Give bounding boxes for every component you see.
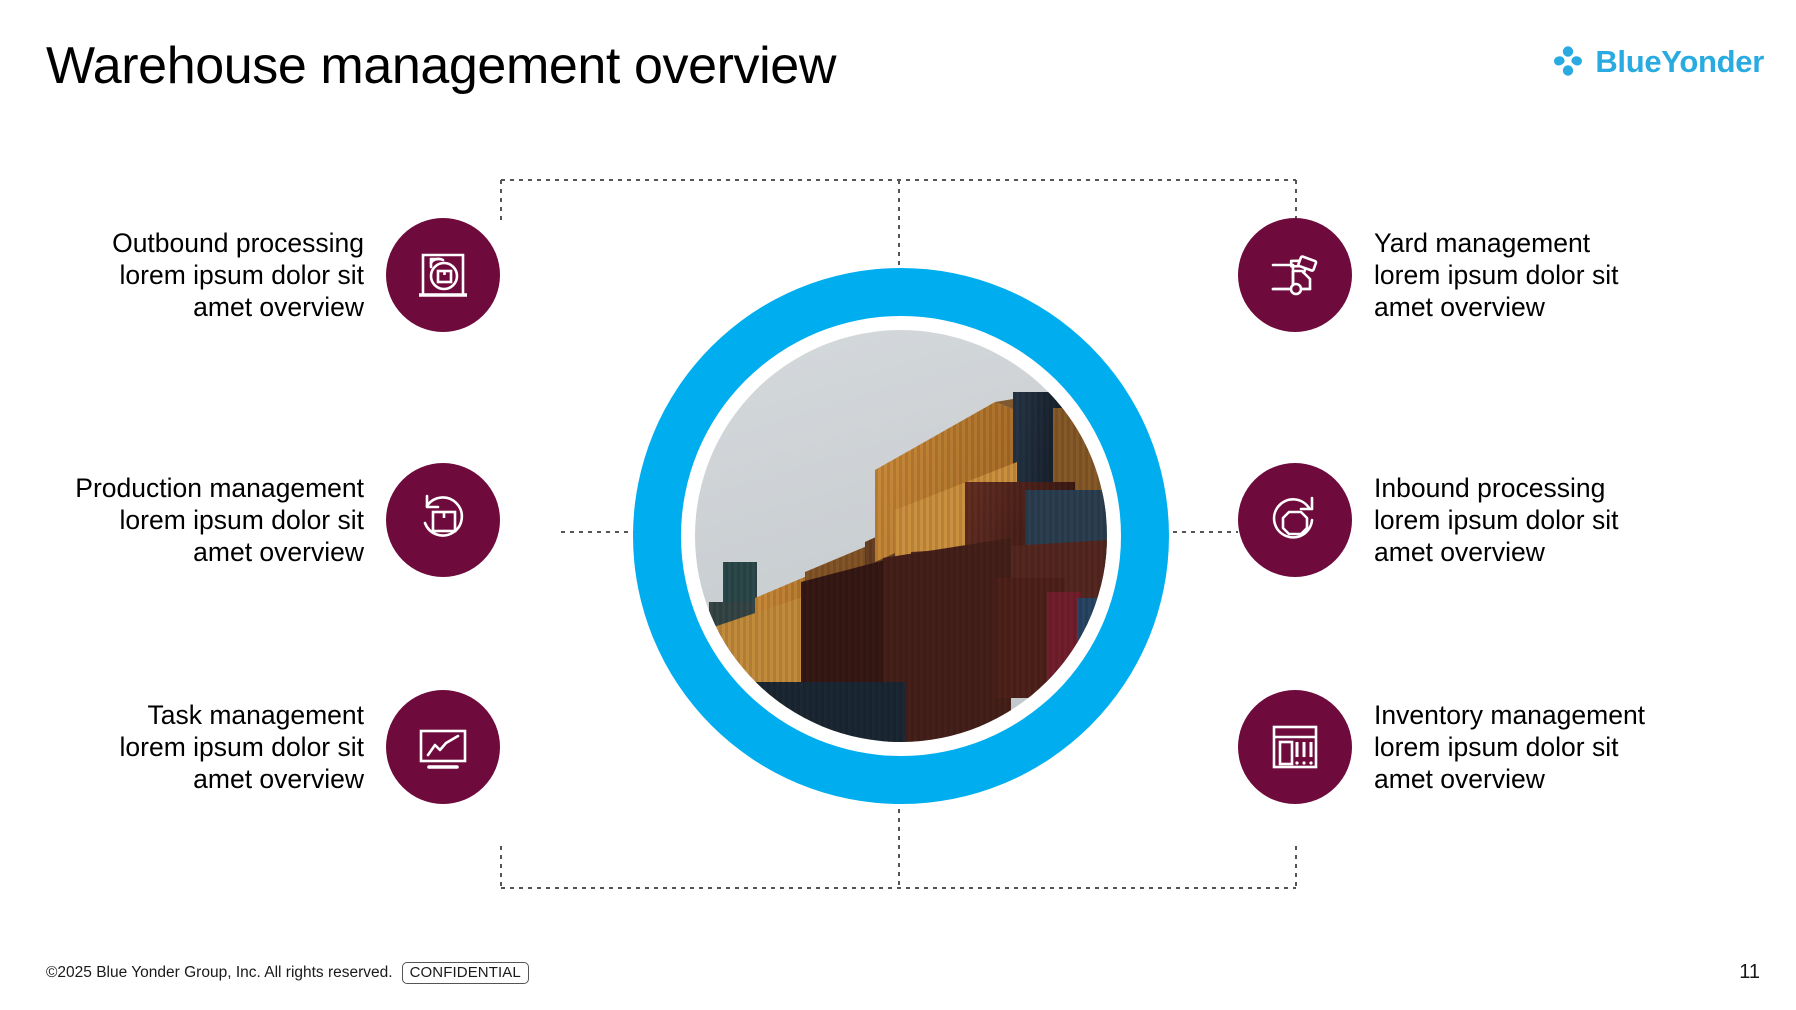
item-line-2: lorem ipsum dolor sit [1374,731,1674,763]
page-title: Warehouse management overview [46,36,836,96]
outbound-processing-icon[interactable] [386,218,500,332]
confidential-badge: CONFIDENTIAL [402,962,529,984]
item-line-2: lorem ipsum dolor sit [64,504,364,536]
logo-wordmark: BlueYonder [1595,46,1764,77]
item-task-management[interactable]: Task management lorem ipsum dolor sit am… [64,690,500,804]
item-label: Inbound processing lorem ipsum dolor sit… [1374,472,1674,569]
production-management-icon[interactable] [386,463,500,577]
item-line-3: amet overview [1374,763,1674,795]
task-management-icon[interactable] [386,690,500,804]
copyright-text: ©2025 Blue Yonder Group, Inc. All rights… [46,964,393,982]
item-line-1: Inventory management [1374,699,1674,731]
blueyonder-logo: BlueYonder [1551,44,1764,78]
item-label: Production management lorem ipsum dolor … [64,472,364,569]
footer: ©2025 Blue Yonder Group, Inc. All rights… [46,962,529,984]
item-line-3: amet overview [1374,536,1674,568]
item-outbound-processing[interactable]: Outbound processing lorem ipsum dolor si… [64,218,500,332]
item-line-2: lorem ipsum dolor sit [1374,504,1674,536]
item-line-1: Yard management [1374,227,1674,259]
item-line-2: lorem ipsum dolor sit [1374,259,1674,291]
item-label: Inventory management lorem ipsum dolor s… [1374,699,1674,796]
item-line-2: lorem ipsum dolor sit [64,731,364,763]
item-line-1: Task management [64,699,364,731]
item-inventory-management[interactable]: Inventory management lorem ipsum dolor s… [1238,690,1674,804]
item-label: Task management lorem ipsum dolor sit am… [64,699,364,796]
item-production-management[interactable]: Production management lorem ipsum dolor … [64,463,500,577]
shipping-containers-photo [695,330,1107,742]
item-line-1: Outbound processing [64,227,364,259]
page-number: 11 [1739,961,1760,984]
item-line-1: Inbound processing [1374,472,1674,504]
item-line-3: amet overview [64,536,364,568]
item-inbound-processing[interactable]: Inbound processing lorem ipsum dolor sit… [1238,463,1674,577]
item-line-2: lorem ipsum dolor sit [64,259,364,291]
item-line-3: amet overview [1374,291,1674,323]
item-yard-management[interactable]: Yard management lorem ipsum dolor sit am… [1238,218,1674,332]
center-hero-circle [633,268,1169,804]
item-line-1: Production management [64,472,364,504]
item-label: Yard management lorem ipsum dolor sit am… [1374,227,1674,324]
item-line-3: amet overview [64,763,364,795]
yard-management-icon[interactable] [1238,218,1352,332]
blueyonder-petal-mark-icon [1551,44,1585,78]
inbound-processing-icon[interactable] [1238,463,1352,577]
item-line-3: amet overview [64,291,364,323]
item-label: Outbound processing lorem ipsum dolor si… [64,227,364,324]
inventory-management-icon[interactable] [1238,690,1352,804]
